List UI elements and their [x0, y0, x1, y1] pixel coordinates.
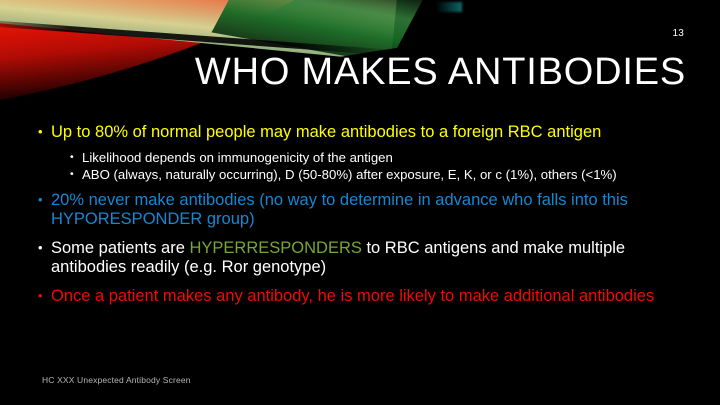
bullet-text-before: Some patients are: [51, 239, 190, 257]
bullet-marker-icon: •: [70, 167, 82, 182]
spacer: [38, 184, 686, 191]
bullet-marker-icon: •: [38, 123, 51, 140]
bullet-item: • Once a patient makes any antibody, he …: [38, 287, 686, 306]
sub-bullet-text: ABO (always, naturally occurring), D (50…: [82, 167, 686, 183]
bullet-text-highlight: HYPERRESPONDERS: [190, 239, 362, 257]
bullet-marker-icon: •: [38, 191, 51, 208]
bullet-marker-icon: •: [38, 287, 51, 304]
bullet-text: Once a patient makes any antibody, he is…: [51, 287, 686, 306]
spacer: [38, 232, 686, 239]
bullet-marker-icon: •: [38, 239, 51, 256]
bullet-text: 20% never make antibodies (no way to det…: [51, 191, 686, 229]
sub-bullet-item: • ABO (always, naturally occurring), D (…: [70, 167, 686, 183]
page-number: 13: [672, 28, 684, 39]
page-title: WHO MAKES ANTIBODIES: [66, 52, 686, 94]
sub-bullet-text: Likelihood depends on immunogenicity of …: [82, 150, 686, 166]
bullet-text: Some patients are HYPERRESPONDERS to RBC…: [51, 239, 686, 277]
bullet-text: Up to 80% of normal people may make anti…: [51, 123, 686, 142]
swoosh-teal-tip: [436, 2, 462, 12]
spacer: [38, 280, 686, 287]
slide-footer: HC XXX Unexpected Antibody Screen: [42, 375, 191, 385]
slide-body: • Up to 80% of normal people may make an…: [38, 123, 686, 309]
presentation-slide: 13 WHO MAKES ANTIBODIES • Up to 80% of n…: [0, 0, 720, 405]
sub-bullet-item: • Likelihood depends on immunogenicity o…: [70, 150, 686, 166]
bullet-marker-icon: •: [70, 150, 82, 165]
bullet-item: • Up to 80% of normal people may make an…: [38, 123, 686, 142]
bullet-item: • Some patients are HYPERRESPONDERS to R…: [38, 239, 686, 277]
bullet-item: • 20% never make antibodies (no way to d…: [38, 191, 686, 229]
